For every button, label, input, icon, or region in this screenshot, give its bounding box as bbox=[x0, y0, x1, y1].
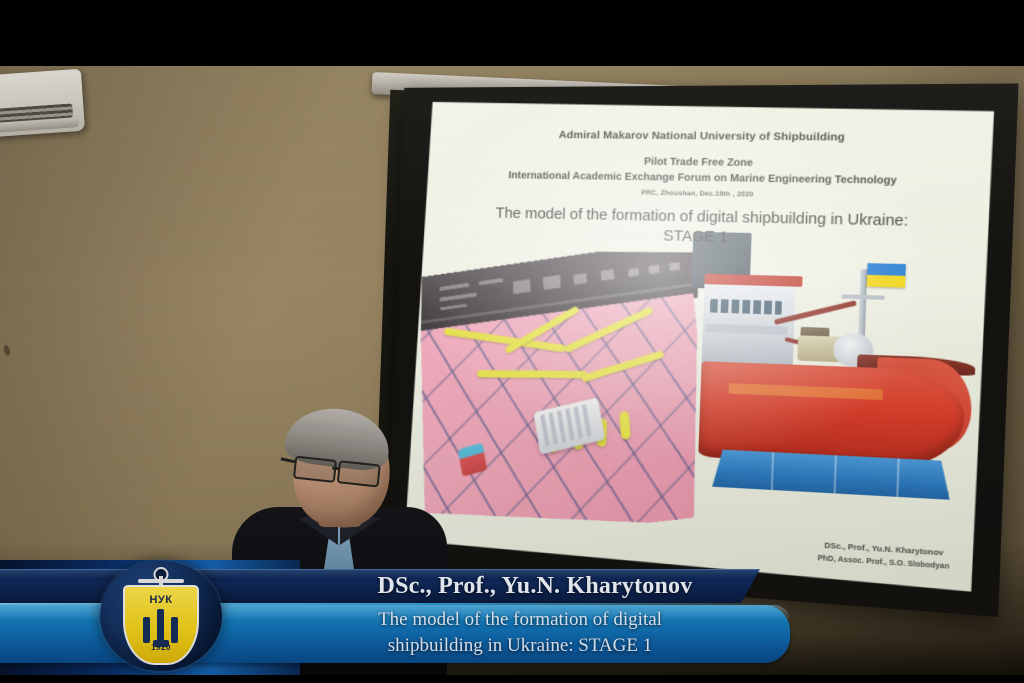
projected-slide: Admiral Makarov National University of S… bbox=[404, 102, 994, 592]
banner-presenter-name: DSc., Prof., Yu.N. Kharytonov bbox=[300, 573, 770, 600]
slide-organization: Admiral Makarov National University of S… bbox=[444, 128, 972, 146]
slide-title-stage: STAGE 1 bbox=[663, 228, 728, 246]
trident-prong-center bbox=[157, 609, 164, 643]
air-conditioner-icon bbox=[0, 69, 85, 137]
slide-title-main: The model of the formation of digital sh… bbox=[495, 206, 908, 230]
trident-prong-left bbox=[143, 617, 150, 643]
slide-title: The model of the formation of digital sh… bbox=[441, 204, 970, 253]
slide-text-content: Admiral Makarov National University of S… bbox=[404, 102, 994, 592]
trident-icon bbox=[141, 607, 181, 647]
banner-subtitle-line-2: shipbuilding in Ukraine: STAGE 1 bbox=[388, 635, 652, 656]
anchor-crossbar bbox=[138, 579, 184, 583]
emblem-initials: НУК bbox=[125, 594, 197, 606]
glasses-lens-left bbox=[293, 456, 337, 483]
nuk-university-emblem: НУК 1920 bbox=[100, 561, 222, 671]
banner-subtitle-line-1: The model of the formation of digital bbox=[378, 609, 662, 630]
trident-prong-right bbox=[171, 617, 178, 643]
banner-subtitle: The model of the formation of digital sh… bbox=[260, 607, 780, 659]
glasses-lens-right bbox=[337, 460, 381, 487]
lower-third-banner: DSc., Prof., Yu.N. Kharytonov The model … bbox=[0, 560, 1024, 675]
video-frame: Admiral Makarov National University of S… bbox=[0, 0, 1024, 683]
letterbox-bottom bbox=[0, 675, 1024, 683]
letterbox-top bbox=[0, 0, 1024, 66]
projection-screen: Admiral Makarov National University of S… bbox=[368, 70, 968, 580]
emblem-year: 1920 bbox=[125, 643, 197, 652]
slide-event-place: PRC, Zhoushan, Dec.19th , 2020 bbox=[442, 187, 970, 204]
emblem-shield: НУК 1920 bbox=[123, 585, 199, 665]
